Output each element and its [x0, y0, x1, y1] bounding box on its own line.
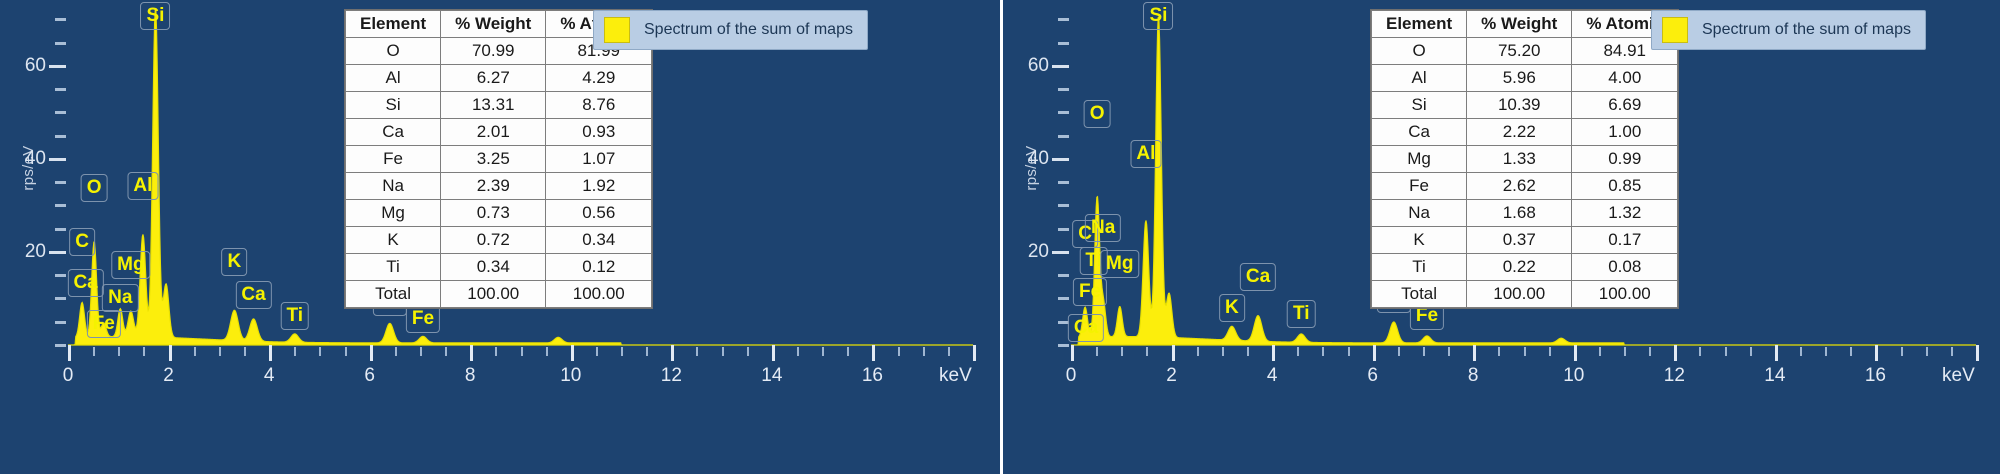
y-axis-minor-tick	[55, 181, 66, 184]
cell-atomic: 0.12	[546, 254, 652, 281]
x-axis-major-tick	[269, 345, 272, 361]
y-axis-minor-tick	[55, 42, 66, 45]
x-axis-minor-tick	[118, 347, 120, 356]
table-row: Mg1.330.99	[1372, 146, 1678, 173]
x-axis-tick-label: 2	[163, 365, 174, 387]
table-row: Al5.964.00	[1372, 65, 1678, 92]
x-axis-minor-tick	[319, 347, 321, 356]
x-axis-tick-label: 12	[661, 365, 682, 387]
y-axis-tick-label: 20	[25, 241, 46, 263]
y-axis-minor-tick	[1058, 204, 1069, 207]
x-axis-tick-label: 16	[862, 365, 883, 387]
peak-label-al: Al	[127, 172, 158, 200]
x-axis-minor-tick	[747, 347, 749, 356]
cell-element: Total	[1372, 281, 1467, 308]
x-axis-minor-tick	[219, 347, 221, 356]
table-row: Total100.00100.00	[346, 281, 652, 308]
cell-weight: 0.34	[441, 254, 546, 281]
y-axis-major-tick	[49, 251, 66, 254]
y-axis-left: rps/eV 204060	[0, 0, 68, 345]
spectrum-panel-right: rps/eV 204060 OAlSiCNaTiMgFeCaKCaTiFeFe …	[1000, 0, 2000, 474]
cell-element: K	[1372, 227, 1467, 254]
y-axis-minor-tick	[55, 274, 66, 277]
peak-label-mg: Mg	[111, 251, 150, 279]
x-axis-tick-label: 0	[1066, 365, 1077, 387]
table-row: K0.720.34	[346, 227, 652, 254]
column-header-weight: % Weight	[1467, 11, 1572, 38]
x-axis-minor-tick	[1599, 347, 1601, 356]
x-axis-minor-tick	[1750, 347, 1752, 356]
x-axis-minor-tick	[1649, 347, 1651, 356]
table-row: Total100.00100.00	[1372, 281, 1678, 308]
cell-element: Mg	[346, 200, 441, 227]
x-axis-left: 0246810121416keV	[68, 345, 973, 405]
y-axis-minor-tick	[1058, 181, 1069, 184]
cell-atomic: 1.00	[1572, 119, 1678, 146]
cell-element: Ca	[1372, 119, 1467, 146]
y-axis-minor-tick	[55, 297, 66, 300]
cell-atomic: 6.69	[1572, 92, 1678, 119]
y-axis-tick-label: 40	[25, 148, 46, 170]
x-axis-tick-label: 0	[63, 365, 74, 387]
table-header-row: Element% Weight% Atomic	[1372, 11, 1678, 38]
cell-atomic: 0.34	[546, 227, 652, 254]
cell-atomic: 100.00	[1572, 281, 1678, 308]
x-axis-tick-label: 2	[1166, 365, 1177, 387]
x-axis-major-tick	[1473, 345, 1476, 361]
cell-weight: 70.99	[441, 38, 546, 65]
y-axis-tick-label: 60	[25, 55, 46, 77]
peak-label-ti: Ti	[280, 302, 309, 330]
y-axis-major-tick	[49, 158, 66, 161]
y-axis-minor-tick	[55, 135, 66, 138]
cell-element: O	[1372, 38, 1467, 65]
x-axis-minor-tick	[1297, 347, 1299, 356]
y-axis-tick-label: 40	[1028, 148, 1049, 170]
x-axis-minor-tick	[948, 347, 950, 356]
column-header-weight: % Weight	[441, 11, 546, 38]
x-axis-tick-label: 6	[364, 365, 375, 387]
cell-weight: 100.00	[441, 281, 546, 308]
peak-label-ca: Ca	[67, 269, 103, 297]
cell-element: Ti	[346, 254, 441, 281]
x-axis-minor-tick	[1825, 347, 1827, 356]
y-axis-major-tick	[1052, 158, 1069, 161]
cell-element: Al	[346, 65, 441, 92]
cell-atomic: 1.32	[1572, 200, 1678, 227]
cell-weight: 1.68	[1467, 200, 1572, 227]
x-axis-major-tick	[169, 345, 172, 361]
peak-label-mg: Mg	[1100, 250, 1139, 278]
table-row: Na2.391.92	[346, 173, 652, 200]
table-row: Al6.274.29	[346, 65, 652, 92]
peak-label-k: K	[1219, 294, 1245, 322]
cell-atomic: 8.76	[546, 92, 652, 119]
column-header-element: Element	[1372, 11, 1467, 38]
cell-weight: 0.22	[1467, 254, 1572, 281]
x-axis-minor-tick	[1348, 347, 1350, 356]
cell-element: O	[346, 38, 441, 65]
cell-atomic: 0.56	[546, 200, 652, 227]
cell-weight: 13.31	[441, 92, 546, 119]
y-axis-minor-tick	[1058, 18, 1069, 21]
cell-element: Na	[1372, 200, 1467, 227]
legend-label: Spectrum of the sum of maps	[644, 21, 853, 39]
x-axis-tick-label: 12	[1664, 365, 1685, 387]
table-row: Na1.681.32	[1372, 200, 1678, 227]
cell-weight: 2.62	[1467, 173, 1572, 200]
x-axis-unit-label: keV	[1942, 365, 1975, 387]
x-axis-tick-label: 14	[1764, 365, 1785, 387]
x-axis-minor-tick	[1901, 347, 1903, 356]
cell-atomic: 4.00	[1572, 65, 1678, 92]
x-axis-minor-tick	[495, 347, 497, 356]
y-axis-minor-tick	[55, 228, 66, 231]
cell-element: Ca	[346, 119, 441, 146]
peak-label-o: O	[1084, 100, 1111, 128]
y-axis-minor-tick	[55, 111, 66, 114]
eds-spectra-figure: rps/eV 204060 COCaFeNaMgAlSiKCaTiFeFe 02…	[0, 0, 2000, 474]
x-axis-minor-tick	[1699, 347, 1701, 356]
x-axis-minor-tick	[696, 347, 698, 356]
cell-element: Na	[346, 173, 441, 200]
cell-atomic: 0.17	[1572, 227, 1678, 254]
x-axis-minor-tick	[1121, 347, 1123, 356]
table-row: Fe3.251.07	[346, 146, 652, 173]
x-axis-minor-tick	[1398, 347, 1400, 356]
composition-table-left: Element% Weight% AtomicO70.9981.99Al6.27…	[345, 10, 652, 308]
cell-element: Si	[346, 92, 441, 119]
table-row: Ti0.340.12	[346, 254, 652, 281]
x-axis-right: 0246810121416keV	[1071, 345, 1976, 405]
x-axis-minor-tick	[1624, 347, 1626, 356]
x-axis-major-tick	[68, 345, 71, 361]
x-axis-minor-tick	[1448, 347, 1450, 356]
x-axis-minor-tick	[822, 347, 824, 356]
x-axis-minor-tick	[445, 347, 447, 356]
table-row: Si13.318.76	[346, 92, 652, 119]
legend-left: Spectrum of the sum of maps	[593, 10, 868, 50]
x-axis-tick-label: 10	[560, 365, 581, 387]
table-row: Ti0.220.08	[1372, 254, 1678, 281]
peak-label-ti: Ti	[1287, 300, 1316, 328]
x-axis-minor-tick	[1549, 347, 1551, 356]
table-row: Fe2.620.85	[1372, 173, 1678, 200]
x-axis-major-tick	[571, 345, 574, 361]
x-axis-end-tick	[1976, 345, 1979, 361]
legend-label: Spectrum of the sum of maps	[1702, 21, 1911, 39]
peak-label-na: Na	[102, 284, 138, 312]
x-axis-major-tick	[1574, 345, 1577, 361]
table-row: Mg0.730.56	[346, 200, 652, 227]
x-axis-tick-label: 6	[1367, 365, 1378, 387]
x-axis-minor-tick	[1146, 347, 1148, 356]
spectrum-panel-left: rps/eV 204060 COCaFeNaMgAlSiKCaTiFeFe 02…	[0, 0, 1000, 474]
cell-atomic: 0.99	[1572, 146, 1678, 173]
x-axis-minor-tick	[1197, 347, 1199, 356]
x-axis-major-tick	[772, 345, 775, 361]
y-axis-minor-tick	[1058, 111, 1069, 114]
x-axis-major-tick	[1172, 345, 1175, 361]
peak-label-fe: Fe	[1073, 278, 1107, 306]
table-row: O75.2084.91	[1372, 38, 1678, 65]
legend-swatch-icon	[604, 17, 630, 43]
x-axis-tick-label: 8	[465, 365, 476, 387]
cell-weight: 2.22	[1467, 119, 1572, 146]
x-axis-minor-tick	[345, 347, 347, 356]
x-axis-major-tick	[1875, 345, 1878, 361]
x-axis-major-tick	[470, 345, 473, 361]
y-axis-minor-tick	[55, 321, 66, 324]
x-axis-minor-tick	[294, 347, 296, 356]
peak-label-ca: Ca	[235, 281, 271, 309]
y-axis-minor-tick	[1058, 88, 1069, 91]
peak-label-c: C	[69, 228, 95, 256]
x-axis-major-tick	[1674, 345, 1677, 361]
cell-element: Total	[346, 281, 441, 308]
cell-atomic: 1.92	[546, 173, 652, 200]
x-axis-major-tick	[872, 345, 875, 361]
y-axis-minor-tick	[55, 18, 66, 21]
cell-element: Fe	[1372, 173, 1467, 200]
column-header-element: Element	[346, 11, 441, 38]
cell-weight: 2.39	[441, 173, 546, 200]
y-axis-major-tick	[49, 65, 66, 68]
x-axis-major-tick	[1071, 345, 1074, 361]
x-axis-minor-tick	[898, 347, 900, 356]
x-axis-minor-tick	[1926, 347, 1928, 356]
cell-element: Si	[1372, 92, 1467, 119]
y-axis-right: rps/eV 204060	[1003, 0, 1071, 345]
x-axis-tick-label: 16	[1865, 365, 1886, 387]
x-axis-minor-tick	[646, 347, 648, 356]
peak-label-o: O	[81, 174, 108, 202]
x-axis-minor-tick	[1524, 347, 1526, 356]
legend-swatch-icon	[1662, 17, 1688, 43]
legend-right: Spectrum of the sum of maps	[1651, 10, 1926, 50]
cell-atomic: 100.00	[546, 281, 652, 308]
cell-atomic: 0.85	[1572, 173, 1678, 200]
peak-label-k: K	[222, 248, 248, 276]
x-axis-tick-label: 4	[1267, 365, 1278, 387]
x-axis-minor-tick	[244, 347, 246, 356]
x-axis-tick-label: 14	[761, 365, 782, 387]
x-axis-minor-tick	[521, 347, 523, 356]
cell-element: Fe	[346, 146, 441, 173]
y-axis-minor-tick	[55, 204, 66, 207]
x-axis-tick-label: 10	[1563, 365, 1584, 387]
y-axis-minor-tick	[1058, 274, 1069, 277]
y-axis-minor-tick	[1058, 42, 1069, 45]
y-axis-tick-label: 60	[1028, 55, 1049, 77]
y-axis-minor-tick	[1058, 297, 1069, 300]
composition-table-right: Element% Weight% AtomicO75.2084.91Al5.96…	[1371, 10, 1678, 308]
cell-weight: 3.25	[441, 146, 546, 173]
cell-element: Ti	[1372, 254, 1467, 281]
cell-atomic: 0.93	[546, 119, 652, 146]
x-axis-tick-label: 4	[264, 365, 275, 387]
table-row: Si10.396.69	[1372, 92, 1678, 119]
x-axis-minor-tick	[420, 347, 422, 356]
x-axis-minor-tick	[1800, 347, 1802, 356]
cell-weight: 2.01	[441, 119, 546, 146]
cell-weight: 5.96	[1467, 65, 1572, 92]
x-axis-end-tick	[973, 345, 976, 361]
y-axis-minor-tick	[55, 344, 66, 347]
x-axis-major-tick	[370, 345, 373, 361]
x-axis-minor-tick	[797, 347, 799, 356]
cell-element: K	[346, 227, 441, 254]
peak-label-al: Al	[1130, 140, 1161, 168]
cell-weight: 0.72	[441, 227, 546, 254]
table-row: Ca2.221.00	[1372, 119, 1678, 146]
x-axis-minor-tick	[1850, 347, 1852, 356]
x-axis-minor-tick	[923, 347, 925, 356]
peak-label-fe: Fe	[406, 305, 440, 333]
cell-element: Al	[1372, 65, 1467, 92]
y-axis-minor-tick	[1058, 344, 1069, 347]
cell-weight: 10.39	[1467, 92, 1572, 119]
cell-weight: 6.27	[441, 65, 546, 92]
x-axis-minor-tick	[1951, 347, 1953, 356]
y-axis-minor-tick	[1058, 135, 1069, 138]
x-axis-major-tick	[1775, 345, 1778, 361]
y-axis-major-tick	[1052, 251, 1069, 254]
x-axis-minor-tick	[395, 347, 397, 356]
cell-weight: 75.20	[1467, 38, 1572, 65]
cell-atomic: 1.07	[546, 146, 652, 173]
x-axis-minor-tick	[1498, 347, 1500, 356]
x-axis-minor-tick	[194, 347, 196, 356]
x-axis-major-tick	[1373, 345, 1376, 361]
peak-label-na: Na	[1085, 214, 1121, 242]
x-axis-minor-tick	[847, 347, 849, 356]
peak-label-si: Si	[140, 2, 170, 30]
peak-label-fe: Fe	[87, 310, 121, 338]
cell-weight: 1.33	[1467, 146, 1572, 173]
cell-weight: 100.00	[1467, 281, 1572, 308]
cell-atomic: 0.08	[1572, 254, 1678, 281]
table-row: Ca2.010.93	[346, 119, 652, 146]
x-axis-minor-tick	[1222, 347, 1224, 356]
x-axis-minor-tick	[546, 347, 548, 356]
x-axis-minor-tick	[1322, 347, 1324, 356]
x-axis-minor-tick	[1096, 347, 1098, 356]
peak-label-si: Si	[1143, 2, 1173, 30]
cell-weight: 0.73	[441, 200, 546, 227]
x-axis-minor-tick	[1725, 347, 1727, 356]
cell-atomic: 4.29	[546, 65, 652, 92]
y-axis-tick-label: 20	[1028, 241, 1049, 263]
x-axis-minor-tick	[621, 347, 623, 356]
x-axis-minor-tick	[596, 347, 598, 356]
x-axis-minor-tick	[93, 347, 95, 356]
y-axis-minor-tick	[55, 88, 66, 91]
x-axis-tick-label: 8	[1468, 365, 1479, 387]
cell-weight: 0.37	[1467, 227, 1572, 254]
x-axis-major-tick	[1272, 345, 1275, 361]
x-axis-minor-tick	[1423, 347, 1425, 356]
peak-label-ca: Ca	[1068, 314, 1104, 342]
y-axis-major-tick	[1052, 65, 1069, 68]
x-axis-minor-tick	[143, 347, 145, 356]
x-axis-major-tick	[671, 345, 674, 361]
cell-element: Mg	[1372, 146, 1467, 173]
x-axis-unit-label: keV	[939, 365, 972, 387]
y-axis-minor-tick	[1058, 228, 1069, 231]
peak-label-ca: Ca	[1240, 263, 1276, 291]
x-axis-minor-tick	[722, 347, 724, 356]
x-axis-minor-tick	[1247, 347, 1249, 356]
table-row: K0.370.17	[1372, 227, 1678, 254]
